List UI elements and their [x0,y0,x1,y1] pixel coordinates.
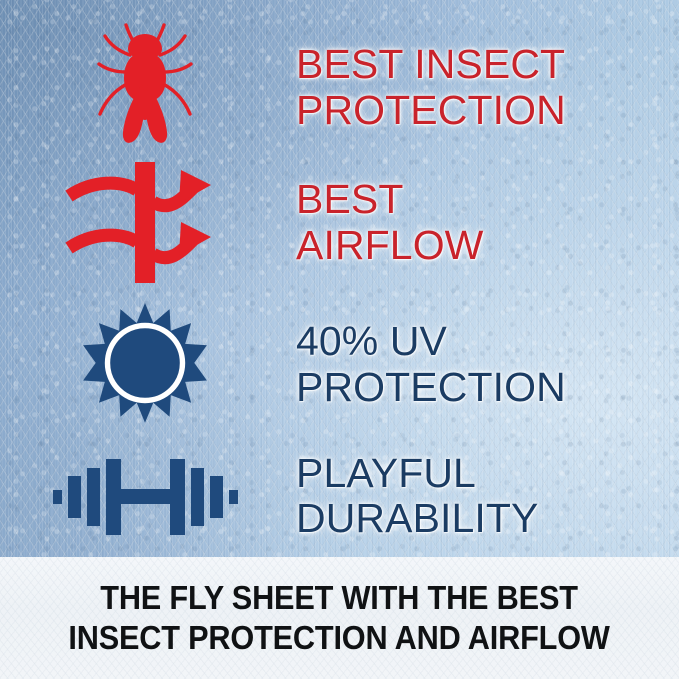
feature-row-durability: PLAYFUL DURABILITY [0,437,679,555]
feature-text-cell: PLAYFUL DURABILITY [290,451,679,541]
feature-icon-cell [0,22,290,154]
feature-text-cell: BEST INSECT PROTECTION [290,42,679,132]
feature-text-cell: 40% UV PROTECTION [290,319,679,409]
sun-uv-icon [81,301,209,429]
feature-row-insect-protection: BEST INSECT PROTECTION [0,20,679,155]
feature-label-durability: PLAYFUL DURABILITY [296,451,679,541]
dumbbell-icon [53,451,238,541]
feature-label-uv-protection: 40% UV PROTECTION [296,319,679,409]
feature-icon-cell [0,160,290,285]
feature-row-airflow: BEST AIRFLOW [0,155,679,290]
airflow-arrows-icon [63,160,228,285]
feature-label-airflow: BEST AIRFLOW [296,177,679,267]
feature-icon-cell [0,451,290,541]
feature-label-insect-protection: BEST INSECT PROTECTION [296,42,679,132]
feature-text-cell: BEST AIRFLOW [290,177,679,267]
feature-row-uv-protection: 40% UV PROTECTION [0,292,679,437]
product-feature-poster: BEST INSECT PROTECTION [0,0,679,679]
fly-icon [85,22,205,154]
bottom-tagline-banner: THE FLY SHEET WITH THE BEST INSECT PROTE… [0,557,679,679]
tagline-text: THE FLY SHEET WITH THE BEST INSECT PROTE… [69,578,610,657]
feature-icon-cell [0,301,290,429]
